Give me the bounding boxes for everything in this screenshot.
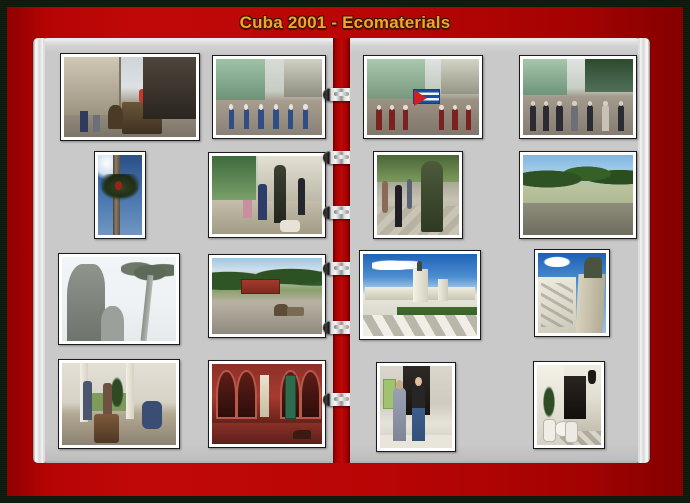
photo-16-image	[537, 365, 601, 445]
photo-10[interactable]	[208, 254, 326, 338]
photo-12[interactable]	[534, 249, 610, 337]
photo-7-image	[377, 155, 459, 235]
photo-13-image	[62, 363, 176, 445]
photo-16[interactable]	[533, 361, 605, 449]
photo-1-image	[64, 57, 196, 137]
photo-8[interactable]	[519, 151, 637, 239]
photo-2[interactable]	[212, 55, 326, 139]
photo-2-image	[216, 59, 322, 135]
photo-14[interactable]	[208, 360, 326, 448]
photo-3[interactable]	[363, 55, 483, 139]
photo-8-image	[523, 155, 633, 235]
photo-15[interactable]	[376, 362, 456, 452]
photo-6[interactable]	[208, 152, 326, 238]
photo-1[interactable]	[60, 53, 200, 141]
photo-10-image	[212, 258, 322, 334]
photo-5[interactable]	[94, 151, 146, 239]
photo-3-image	[367, 59, 479, 135]
photo-12-image	[538, 253, 606, 333]
photo-9-image	[62, 257, 176, 341]
photo-4[interactable]	[519, 55, 637, 139]
photo-4-image	[523, 59, 633, 135]
photo-13[interactable]	[58, 359, 180, 449]
photo-11-image	[363, 254, 477, 336]
album-spine	[333, 38, 350, 463]
photo-7[interactable]	[373, 151, 463, 239]
page-title: Cuba 2001 - Ecomaterials	[240, 13, 451, 33]
photo-15-image	[380, 366, 452, 448]
photo-album	[33, 38, 650, 463]
album-outer-frame: Cuba 2001 - Ecomaterials	[0, 0, 690, 503]
photo-9[interactable]	[58, 253, 180, 345]
right-album-page	[350, 38, 640, 463]
photo-11[interactable]	[359, 250, 481, 340]
photo-14-image	[212, 364, 322, 444]
left-album-page	[43, 38, 333, 463]
photo-6-image	[212, 156, 322, 234]
title-bar: Cuba 2001 - Ecomaterials	[7, 7, 683, 38]
photo-5-image	[98, 155, 142, 235]
